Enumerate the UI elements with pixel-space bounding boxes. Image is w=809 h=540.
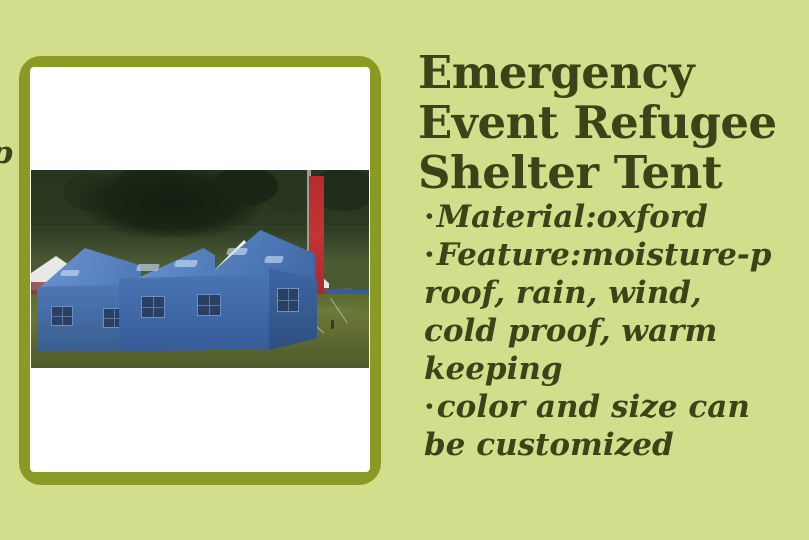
tent-window [277,288,299,312]
tent-window [51,306,73,326]
photo-tree-canopy [77,170,267,238]
tent-skylight [60,270,80,276]
tent-skylight [136,264,160,271]
slide-root: p [0,0,809,540]
tent-peg [331,320,334,329]
product-image-panel [30,67,370,472]
tent-window [197,294,221,316]
product-title: Emergency Event Refugee Shelter Tent [418,48,809,198]
bullet-dot-icon: · [424,237,437,273]
product-photo [31,170,369,368]
feature-item-text: Feature:moisture-p roof, rain, wind, col… [424,237,771,387]
tent-skylight [174,260,198,267]
bullet-dot-icon: · [424,389,437,425]
tent-window [141,296,165,318]
feature-item-text: color and size can be customized [424,389,750,463]
bullet-dot-icon: · [424,199,437,235]
product-feature-list: ·Material:oxford ·Feature:moisture-p roo… [418,198,809,464]
product-image-frame [19,56,381,485]
clipped-edge-glyph: p [0,138,13,169]
tent-skylight [264,256,284,263]
blue-tent-main [119,230,315,352]
feature-item-customization: ·color and size can be customized [418,388,809,464]
feature-item-text: Material:oxford [437,199,708,235]
feature-item-material: ·Material:oxford [418,198,809,236]
feature-item-feature: ·Feature:moisture-p roof, rain, wind, co… [418,236,809,388]
tent-roof [201,230,315,282]
product-copy: Emergency Event Refugee Shelter Tent ·Ma… [418,48,809,464]
tent-skylight [226,248,248,255]
